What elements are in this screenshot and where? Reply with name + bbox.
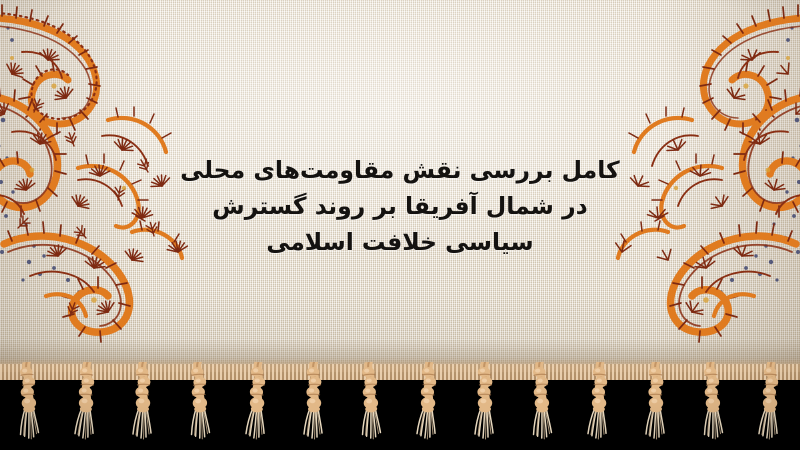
tassel [130,362,156,448]
tassel [698,361,728,448]
tassel [643,362,669,448]
title-line-1: کامل بررسی نقش مقاومت‌های محلی [0,152,800,188]
tassel [301,362,327,448]
tassel [14,361,44,448]
tassel [756,362,785,449]
tassel [472,362,498,448]
tassel [72,362,101,449]
tassel [356,361,386,448]
slide-canvas: کامل بررسی نقش مقاومت‌های محلی در شمال آ… [0,0,800,450]
slide-title: کامل بررسی نقش مقاومت‌های محلی در شمال آ… [0,152,800,260]
tassel-fringe [0,362,800,450]
title-line-3: سیاسی خلافت اسلامی [0,224,800,260]
title-line-2: در شمال آفریقا بر روند گسترش [0,188,800,224]
tassel [585,362,614,449]
tassel [414,362,443,449]
tassel [185,361,215,448]
tassel [243,362,272,449]
tassel [527,361,557,448]
